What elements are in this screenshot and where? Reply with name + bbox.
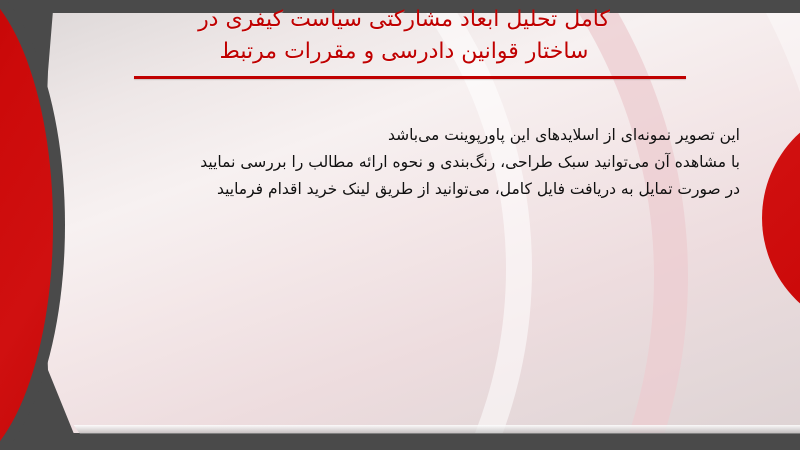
slide-title-line-2: ساختار قوانین دادرسی و مقررات مرتبط	[94, 36, 714, 68]
left-red-lens-shape	[0, 0, 53, 450]
slide-title: کامل تحلیل ابعاد مشارکتی سیاست کیفری در …	[94, 4, 714, 68]
body-line-2: با مشاهده آن می‌توانید سبک طراحی، رنگ‌بن…	[80, 149, 740, 176]
presentation-slide: کامل تحلیل ابعاد مشارکتی سیاست کیفری در …	[0, 0, 800, 450]
slide-body-text: این تصویر نمونه‌ای از اسلایدهای این پاور…	[80, 122, 740, 203]
body-line-3: در صورت تمایل به دریافت فایل کامل، می‌تو…	[80, 176, 740, 203]
slide-frame-bottom-band	[0, 432, 800, 450]
panel-bottom-edge	[0, 425, 800, 434]
body-line-1: این تصویر نمونه‌ای از اسلایدهای این پاور…	[80, 122, 740, 149]
title-underline-rule	[134, 76, 686, 79]
slide-title-line-1: کامل تحلیل ابعاد مشارکتی سیاست کیفری در	[94, 4, 714, 36]
